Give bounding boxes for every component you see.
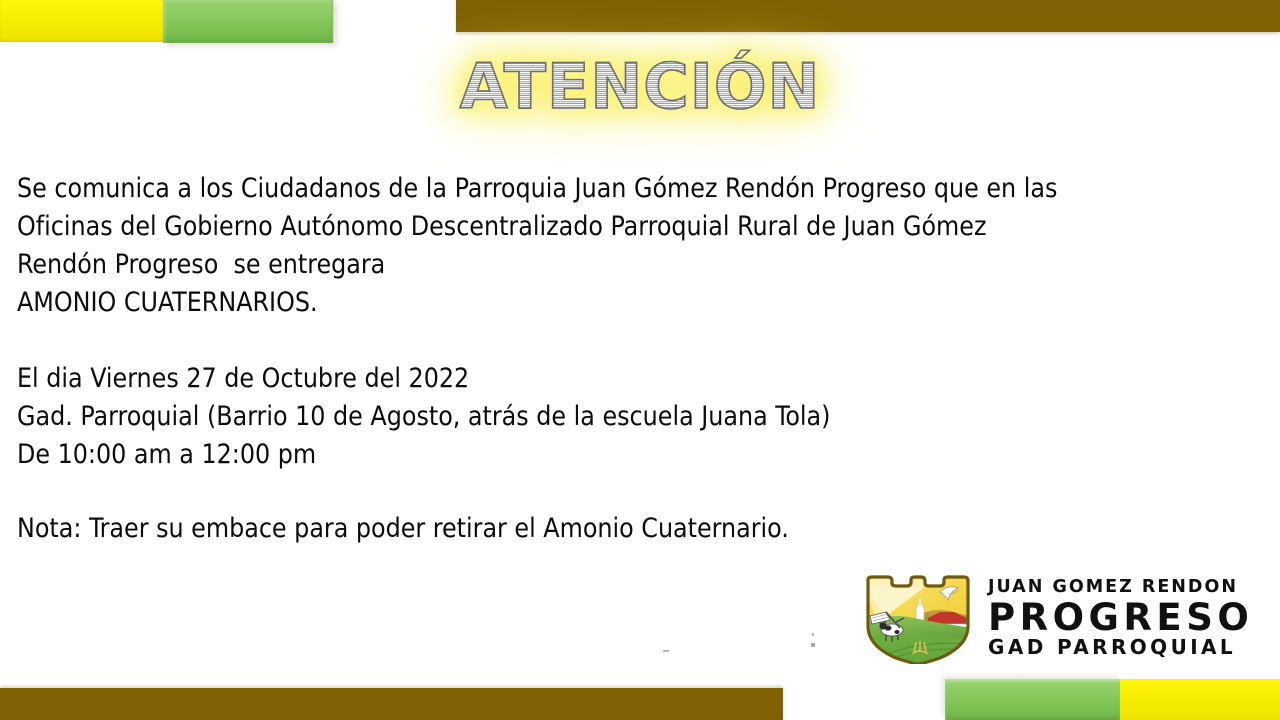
notice-paragraph-line-1: Se comunica a los Ciudadanos de la Parro… <box>17 170 1175 208</box>
decor-bar-bottom-left-brown <box>0 688 783 720</box>
logo-line-bottom: GAD PARROQUIAL <box>988 637 1253 657</box>
notice-time-line: De 10:00 am a 12:00 pm <box>17 436 1177 474</box>
logo-line-main: PROGRESO <box>988 599 1253 636</box>
decor-bar-bottom-right-green <box>945 679 1121 720</box>
scan-artifact-dash <box>663 650 669 652</box>
progreso-crest-shield-icon <box>862 572 974 664</box>
decor-bar-bottom-right-yellow <box>1120 679 1280 720</box>
logo-wordmark: JUAN GOMEZ RENDON PROGRESO GAD PARROQUIA… <box>988 579 1253 657</box>
notice-place-line: Gad. Parroquial (Barrio 10 de Agosto, at… <box>17 398 1177 436</box>
body-spacer-2 <box>17 474 1177 510</box>
scan-artifact-dot-upper <box>812 633 814 636</box>
scan-artifact-dot-lower <box>811 643 815 647</box>
body-spacer-1 <box>17 322 1177 360</box>
notice-date-line: El dia Viernes 27 de Octubre del 2022 <box>17 360 1177 398</box>
notice-slide: ATENCIÓN Se comunica a los Ciudadanos de… <box>0 0 1280 720</box>
organization-logo: JUAN GOMEZ RENDON PROGRESO GAD PARROQUIA… <box>862 572 1266 664</box>
decor-bar-top-right-brown <box>456 0 1280 32</box>
decor-bar-top-left-yellow <box>0 0 164 42</box>
page-title-text: ATENCIÓN <box>460 56 821 118</box>
decor-bar-top-left-green <box>163 0 334 43</box>
page-title: ATENCIÓN <box>0 56 1280 118</box>
notice-paragraph-line-2: Oficinas del Gobierno Autónomo Descentra… <box>17 208 1175 246</box>
notice-paragraph-line-3: Rendón Progreso se entregara <box>17 246 1177 284</box>
logo-line-top: JUAN GOMEZ RENDON <box>988 579 1253 597</box>
notice-note-line: Nota: Traer su embace para poder retirar… <box>17 510 1177 548</box>
notice-product-name: AMONIO CUATERNARIOS. <box>17 284 1177 322</box>
notice-body: Se comunica a los Ciudadanos de la Parro… <box>17 170 1177 548</box>
